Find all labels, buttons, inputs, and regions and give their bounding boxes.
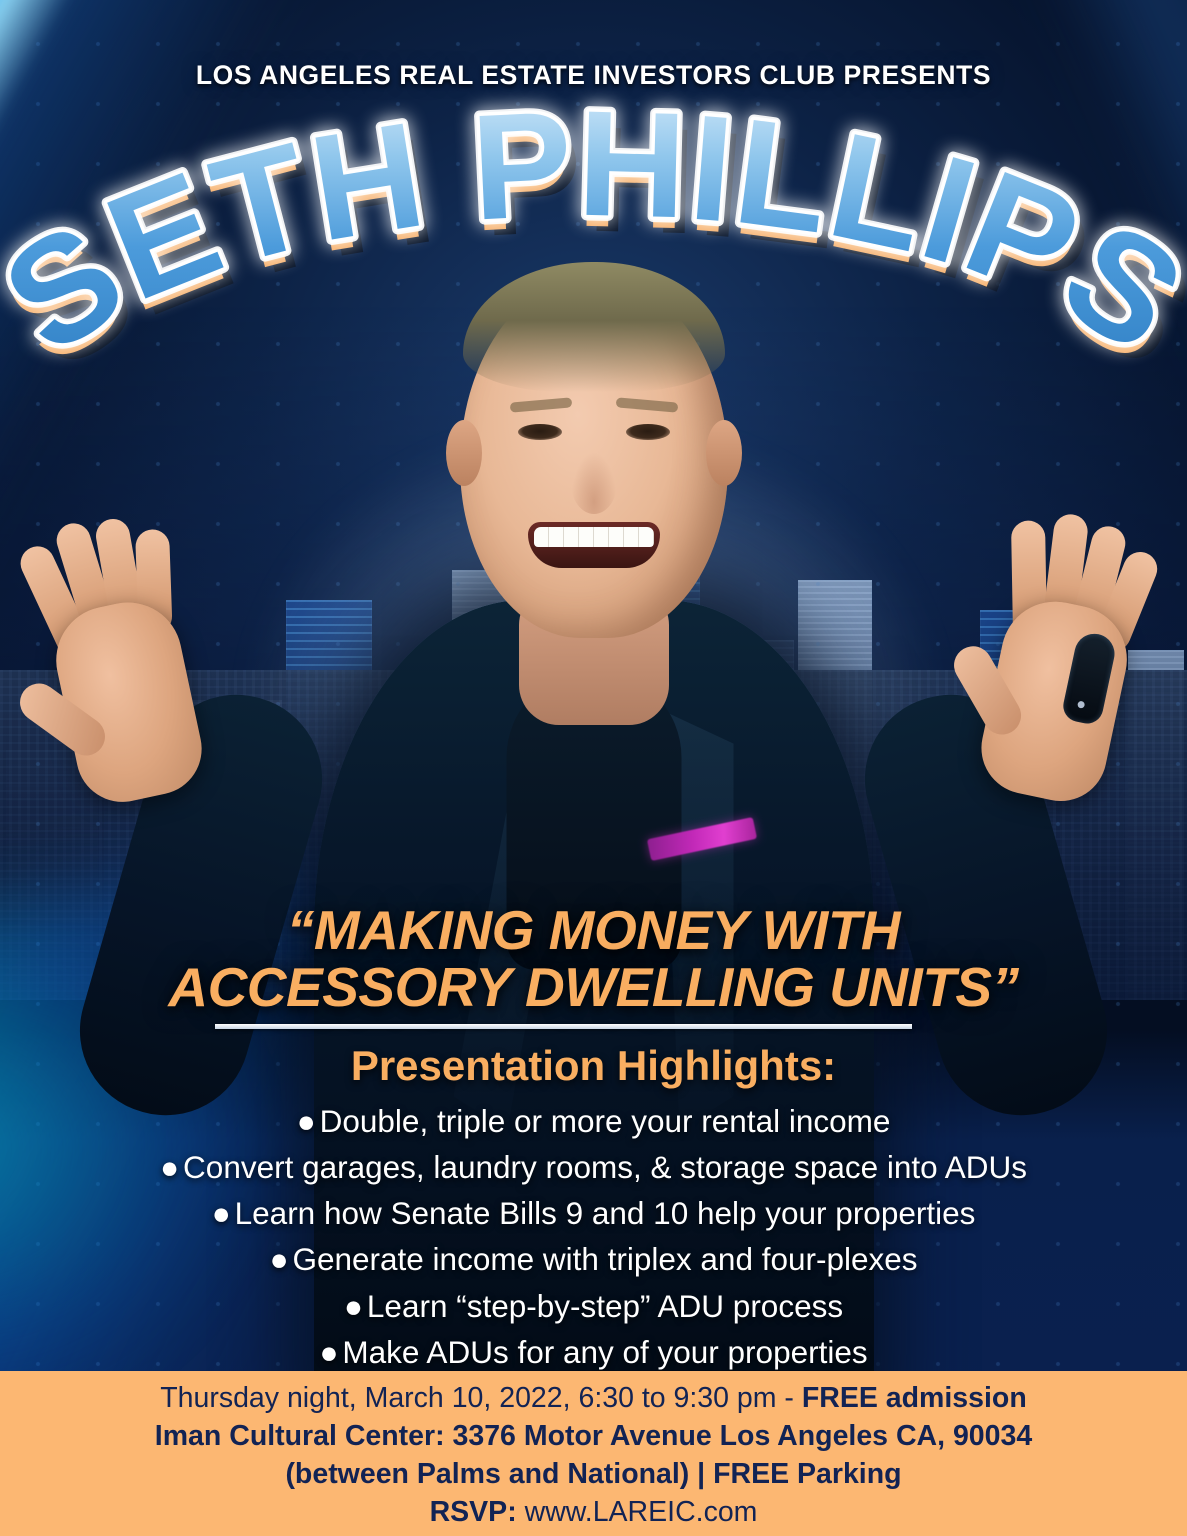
presenter-kicker: LOS ANGELES REAL ESTATE INVESTORS CLUB P…	[0, 60, 1187, 91]
bullet-dot-icon: ●	[344, 1288, 363, 1324]
admission-badge: FREE admission	[802, 1382, 1027, 1414]
presentation-title-line1: “MAKING MONEY WITH	[0, 902, 1187, 959]
speaker-eye-left	[518, 424, 562, 440]
speaker-name-arch: SETH PHILLIPS SETH PHILLIPS SETH PHILLIP…	[0, 92, 1187, 392]
speaker-teeth	[534, 527, 654, 547]
highlight-item: ●Make ADUs for any of your properties	[0, 1329, 1187, 1375]
title-divider	[215, 1024, 912, 1029]
speaker-hand-right	[944, 492, 1187, 824]
presentation-title-line2: ACCESSORY DWELLING UNITS”	[0, 959, 1187, 1016]
highlight-item-label: Convert garages, laundry rooms, & storag…	[183, 1149, 1027, 1185]
highlights-heading: Presentation Highlights:	[0, 1042, 1187, 1090]
event-flyer: LOS ANGELES REAL ESTATE INVESTORS CLUB P…	[0, 0, 1187, 1536]
highlights-list: ●Double, triple or more your rental inco…	[0, 1098, 1187, 1375]
highlight-item: ●Learn “step-by-step” ADU process	[0, 1283, 1187, 1329]
highlight-item: ●Learn how Senate Bills 9 and 10 help yo…	[0, 1190, 1187, 1236]
highlight-item-label: Make ADUs for any of your properties	[342, 1334, 867, 1370]
bullet-dot-icon: ●	[297, 1103, 316, 1139]
speaker-ear-right	[706, 420, 742, 486]
event-datetime: Thursday night, March 10, 2022, 6:30 to …	[160, 1382, 802, 1414]
event-date-line: Thursday night, March 10, 2022, 6:30 to …	[0, 1380, 1187, 1418]
rsvp-label: RSVP:	[430, 1496, 517, 1528]
event-venue-address: Iman Cultural Center: 3376 Motor Avenue …	[0, 1418, 1187, 1456]
bullet-dot-icon: ●	[212, 1195, 231, 1231]
event-cross-streets-parking: (between Palms and National) | FREE Park…	[0, 1456, 1187, 1494]
speaker-ear-left	[446, 420, 482, 486]
bullet-dot-icon: ●	[160, 1149, 179, 1185]
highlight-item: ●Double, triple or more your rental inco…	[0, 1098, 1187, 1144]
bullet-dot-icon: ●	[269, 1241, 288, 1277]
rsvp-url[interactable]: www.LAREIC.com	[517, 1496, 758, 1528]
highlight-item: ●Generate income with triplex and four-p…	[0, 1236, 1187, 1282]
speaker-eye-right	[626, 424, 670, 440]
highlight-item-label: Learn how Senate Bills 9 and 10 help you…	[235, 1195, 976, 1231]
highlight-item-label: Learn “step-by-step” ADU process	[367, 1288, 843, 1324]
speaker-smile	[528, 522, 660, 568]
speaker-nose	[571, 452, 617, 514]
presentation-title: “MAKING MONEY WITH ACCESSORY DWELLING UN…	[0, 902, 1187, 1016]
event-details-banner: Thursday night, March 10, 2022, 6:30 to …	[0, 1371, 1187, 1536]
highlight-item-label: Double, triple or more your rental incom…	[320, 1103, 891, 1139]
highlight-item-label: Generate income with triplex and four-pl…	[292, 1241, 917, 1277]
speaker-hand-left	[0, 492, 243, 824]
highlight-item: ●Convert garages, laundry rooms, & stora…	[0, 1144, 1187, 1190]
bullet-dot-icon: ●	[319, 1334, 338, 1370]
rsvp-line: RSVP: www.LAREIC.com	[0, 1494, 1187, 1532]
